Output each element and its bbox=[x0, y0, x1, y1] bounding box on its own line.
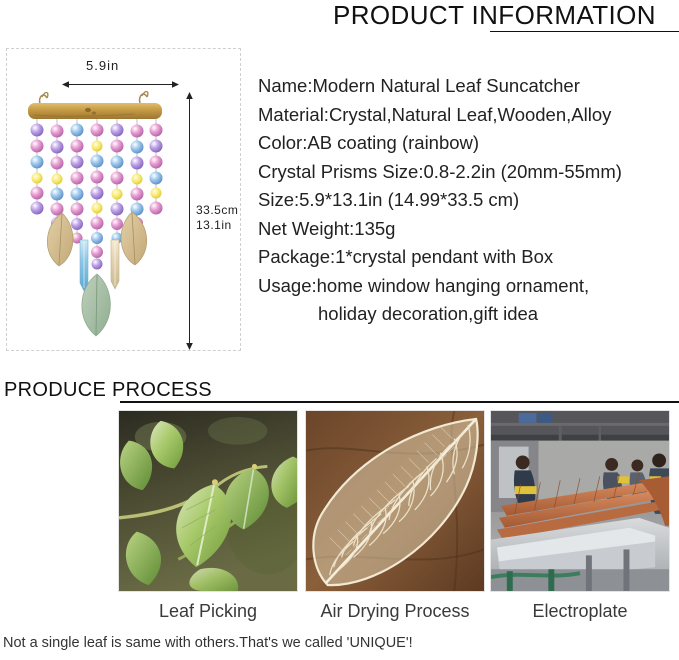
dimension-width-label: 5.9in bbox=[86, 58, 119, 73]
info-size: Size:5.9*13.1in (14.99*33.5 cm) bbox=[258, 186, 679, 215]
leaf-left bbox=[47, 213, 73, 266]
process-caption-leaf-picking: Leaf Picking bbox=[118, 601, 298, 622]
info-usage-line-1: Usage:home window hanging ornament, bbox=[258, 272, 679, 301]
section-title-produce-process: PRODUCE PROCESS bbox=[4, 379, 212, 402]
info-name: Name:Modern Natural Leaf Suncatcher bbox=[258, 72, 679, 101]
process-image-air-drying bbox=[305, 410, 485, 592]
crystal-prism-left bbox=[80, 240, 88, 291]
dimension-height-label: 33.5cm 13.1in bbox=[196, 203, 238, 233]
product-detail-page: PRODUCT INFORMATION 5.9in 33.5cm 13.1in bbox=[0, 0, 679, 660]
info-net-weight: Net Weight:135g bbox=[258, 215, 679, 244]
crystal-prism-right bbox=[111, 240, 119, 289]
info-usage-line-2: holiday decoration,gift idea bbox=[258, 300, 679, 329]
page-title-product-information: PRODUCT INFORMATION bbox=[333, 0, 656, 31]
produce-process-underline bbox=[120, 401, 679, 403]
process-caption-electroplate: Electroplate bbox=[490, 601, 670, 622]
dimension-height-cm: 33.5cm bbox=[196, 203, 238, 217]
leaf-right bbox=[121, 212, 147, 265]
info-package: Package:1*crystal pendant with Box bbox=[258, 243, 679, 272]
product-information-underline bbox=[490, 31, 679, 32]
dimension-height-in: 13.1in bbox=[196, 218, 232, 232]
footnote-unique: Not a single leaf is same with others.Th… bbox=[3, 635, 413, 651]
info-prism-size: Crystal Prisms Size:0.8-2.2in (20mm-55mm… bbox=[258, 158, 679, 187]
product-information-list: Name:Modern Natural Leaf Suncatcher Mate… bbox=[258, 72, 679, 329]
process-image-electroplate bbox=[490, 410, 670, 592]
info-color: Color:AB coating (rainbow) bbox=[258, 129, 679, 158]
info-material: Material:Crystal,Natural Leaf,Wooden,All… bbox=[258, 101, 679, 130]
process-image-leaf-picking bbox=[118, 410, 298, 592]
suncatcher-product-image bbox=[14, 88, 184, 348]
dimension-height-arrow bbox=[185, 92, 194, 350]
process-caption-air-drying: Air Drying Process bbox=[305, 601, 485, 622]
